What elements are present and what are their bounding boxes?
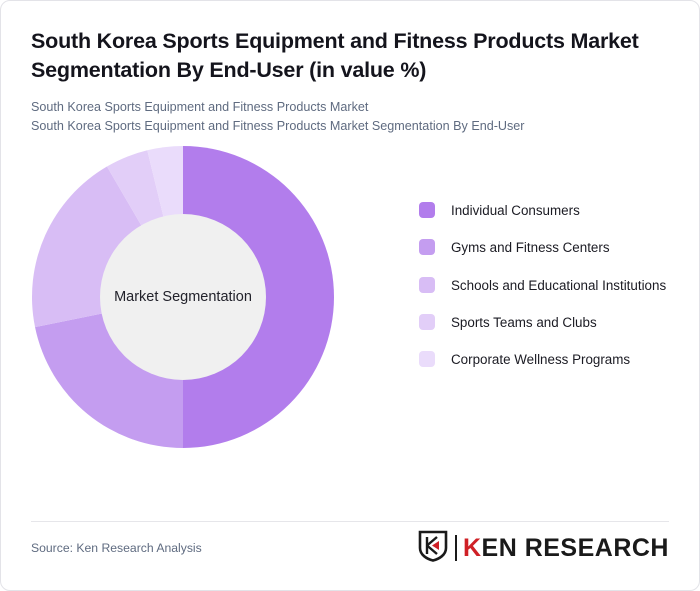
brand-name-accent: K: [463, 534, 482, 562]
legend-swatch-icon: [419, 314, 435, 330]
footer-divider: [31, 521, 669, 522]
donut-svg: [27, 141, 339, 453]
donut-chart: Market Segmentation: [27, 141, 339, 453]
legend-item-label: Individual Consumers: [451, 201, 580, 220]
legend-item-label: Sports Teams and Clubs: [451, 313, 597, 332]
legend-item-individual-consumers[interactable]: Individual Consumers: [419, 201, 677, 220]
chart-subtitle-line-1: South Korea Sports Equipment and Fitness…: [31, 98, 669, 117]
legend-swatch-icon: [419, 239, 435, 255]
page-title: South Korea Sports Equipment and Fitness…: [31, 27, 669, 84]
legend-swatch-icon: [419, 351, 435, 367]
legend-item-corporate-wellness-programs[interactable]: Corporate Wellness Programs: [419, 350, 677, 369]
ken-research-shield-icon: [418, 530, 448, 567]
legend-item-label: Gyms and Fitness Centers: [451, 238, 610, 257]
chart-footer: Source: Ken Research Analysis KEN RESEAR…: [31, 530, 669, 566]
brand-name-rest: EN RESEARCH: [482, 534, 669, 562]
donut-center-disc: [100, 214, 266, 380]
chart-legend: Individual Consumers Gyms and Fitness Ce…: [419, 201, 677, 388]
chart-subtitle-line-2: South Korea Sports Equipment and Fitness…: [31, 117, 669, 136]
legend-item-label: Corporate Wellness Programs: [451, 350, 630, 369]
subtitle-block: South Korea Sports Equipment and Fitness…: [31, 98, 669, 137]
chart-header: South Korea Sports Equipment and Fitness…: [1, 1, 699, 137]
legend-swatch-icon: [419, 277, 435, 293]
brand-logo: KEN RESEARCH: [418, 530, 669, 567]
plot-area: Market Segmentation Individual Consumers…: [1, 149, 699, 479]
legend-item-label: Schools and Educational Institutions: [451, 276, 666, 295]
brand-divider: [455, 535, 457, 561]
legend-item-schools-and-educational-institutions[interactable]: Schools and Educational Institutions: [419, 276, 677, 295]
legend-item-sports-teams-and-clubs[interactable]: Sports Teams and Clubs: [419, 313, 677, 332]
legend-item-gyms-and-fitness-centers[interactable]: Gyms and Fitness Centers: [419, 238, 677, 257]
brand-name: KEN RESEARCH: [463, 534, 669, 563]
source-text: Source: Ken Research Analysis: [31, 541, 202, 555]
chart-card: South Korea Sports Equipment and Fitness…: [0, 0, 700, 591]
legend-swatch-icon: [419, 202, 435, 218]
